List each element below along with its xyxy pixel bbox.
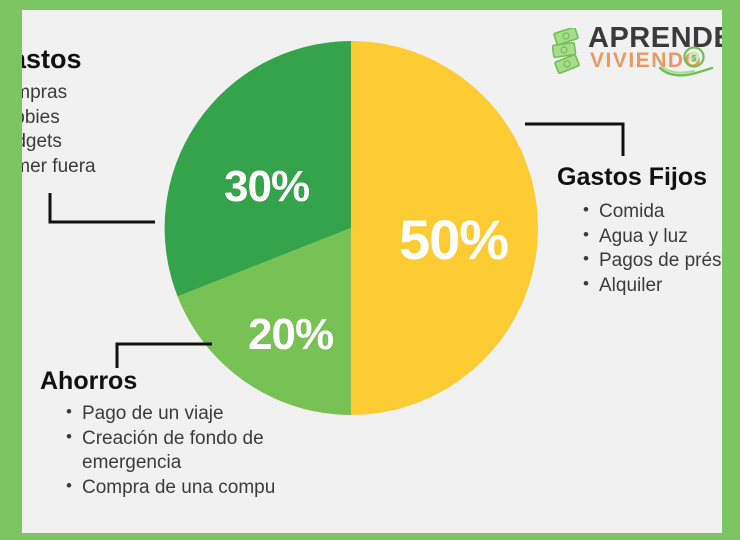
- infographic-stage: APRENDE VIVIENDO $ 50% 30% 20%: [0, 0, 740, 540]
- list-item: Comer fuera: [22, 155, 220, 180]
- list-item: Creación de fondo de emergencia: [64, 427, 340, 476]
- list-item: Comida: [581, 200, 722, 225]
- callout-gastos-list: Compras Hobbies Gadgets Comer fuera: [22, 81, 220, 180]
- list-item: Agua y luz: [581, 225, 722, 250]
- pie-label-gastos-fijos: 50%: [399, 207, 508, 272]
- leader-line-gastos-fijos: [525, 124, 623, 156]
- list-item: Gadgets: [22, 130, 220, 155]
- infographic-canvas: APRENDE VIVIENDO $ 50% 30% 20%: [22, 10, 722, 533]
- callout-gastos-fijos-title: Gastos Fijos: [557, 163, 722, 192]
- callout-gastos-fijos-list: Comida Agua y luz Pagos de présta Alquil…: [557, 200, 722, 299]
- list-item: Hobbies: [22, 106, 220, 131]
- pie-label-gastos: 30%: [224, 162, 309, 212]
- callout-gastos-title: Gastos: [22, 44, 220, 75]
- list-item: Compras: [22, 81, 220, 106]
- callout-ahorros-list: Pago de un viaje Creación de fondo de em…: [40, 402, 340, 501]
- list-item: Compra de una compu: [64, 476, 340, 501]
- list-item: Alquiler: [581, 274, 722, 299]
- svg-text:$: $: [692, 54, 697, 63]
- callout-gastos-fijos: Gastos Fijos Comida Agua y luz Pagos de …: [557, 163, 722, 299]
- callout-gastos: Gastos Compras Hobbies Gadgets Comer fue…: [22, 44, 220, 180]
- leader-line-gastos: [50, 193, 155, 222]
- callout-ahorros-title: Ahorros: [40, 367, 340, 396]
- callout-ahorros: Ahorros Pago de un viaje Creación de fon…: [40, 367, 340, 501]
- list-item: Pagos de présta: [581, 249, 722, 274]
- pie-label-ahorros: 20%: [248, 310, 333, 360]
- brand-logo[interactable]: APRENDE VIVIENDO $: [552, 18, 722, 78]
- list-item: Pago de un viaje: [64, 402, 340, 427]
- hand-with-coin-icon: $: [656, 46, 718, 78]
